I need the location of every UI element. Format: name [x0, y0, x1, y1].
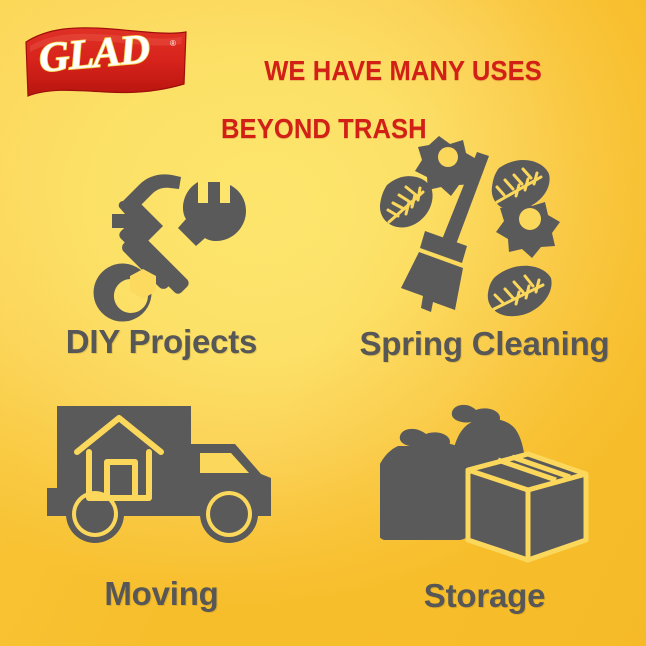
headline-line-2: BEYOND TRASH	[221, 114, 542, 143]
tile-label: Storage	[424, 578, 545, 614]
headline: WE HAVE MANY USES BEYOND TRASH	[221, 27, 542, 201]
registered-trademark-icon: ®	[170, 39, 176, 48]
headline-line-1: WE HAVE MANY USES	[264, 55, 542, 86]
tile-storage[interactable]: Storage	[323, 382, 646, 646]
promo-poster: GLAD ® WE HAVE MANY USES BEYOND TRASH	[0, 0, 646, 646]
glad-logo: GLAD ®	[22, 26, 190, 100]
tile-label: Moving	[104, 576, 218, 612]
trash-bags-box-icon	[380, 394, 590, 570]
tile-label: DIY Projects	[66, 324, 257, 360]
moving-truck-icon	[39, 396, 285, 566]
svg-text:GLAD: GLAD	[37, 26, 152, 81]
tile-moving[interactable]: Moving	[0, 382, 323, 646]
poster-header: GLAD ® WE HAVE MANY USES BEYOND TRASH	[0, 0, 646, 118]
tile-label: Spring Cleaning	[359, 326, 609, 362]
